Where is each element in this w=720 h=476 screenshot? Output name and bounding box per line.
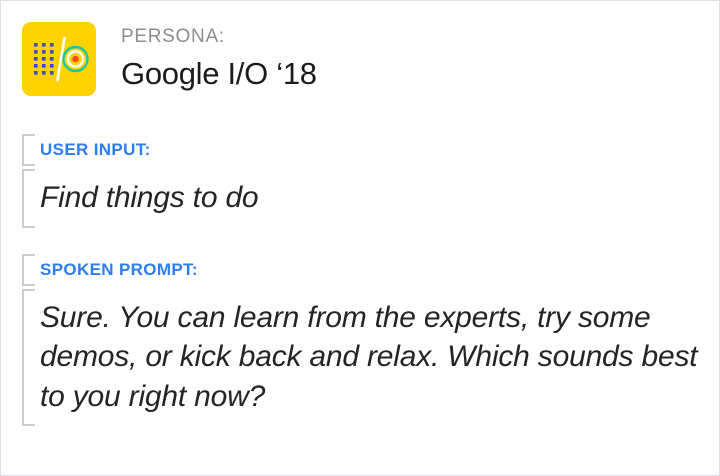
user-input-label-bracket: USER INPUT: [22,134,719,166]
spoken-prompt-label-bracket: SPOKEN PROMPT: [22,254,719,286]
user-input-body-bracket: Find things to do [22,169,719,228]
spoken-prompt-body-bracket: Sure. You can learn from the experts, tr… [22,289,719,427]
section-spoken-prompt: SPOKEN PROMPT: Sure. You can learn from … [1,254,719,427]
persona-label: PERSONA: [121,25,317,49]
section-user-input: USER INPUT: Find things to do [1,134,719,228]
persona-card: PERSONA: Google I/O ‘18 USER INPUT: Find… [0,0,720,476]
spoken-prompt-label: SPOKEN PROMPT: [40,254,719,286]
persona-text-block: PERSONA: Google I/O ‘18 [121,22,317,94]
spoken-prompt-body: Sure. You can learn from the experts, tr… [40,289,700,427]
google-io-logo-icon [22,22,96,96]
persona-header: PERSONA: Google I/O ‘18 [1,1,719,96]
user-input-body: Find things to do [40,169,700,228]
user-input-label: USER INPUT: [40,134,719,166]
page-title: Google I/O ‘18 [121,55,317,94]
